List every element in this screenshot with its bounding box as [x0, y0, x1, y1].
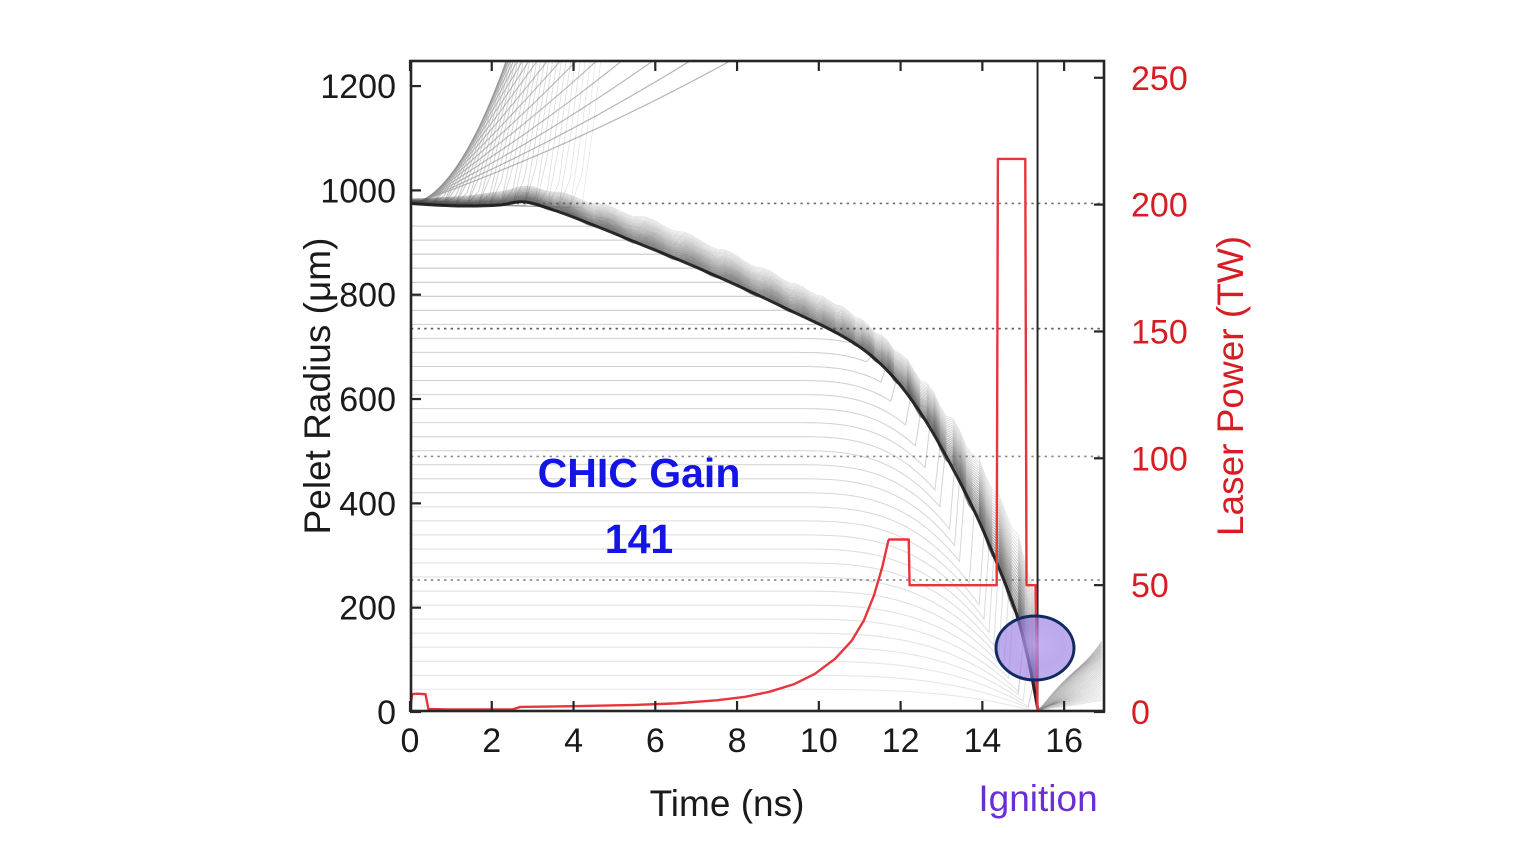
svg-text:2: 2: [482, 722, 501, 760]
ignition-label: Ignition: [978, 778, 1097, 819]
chart-background: [0, 0, 1536, 864]
svg-text:8: 8: [728, 722, 747, 760]
figure-root: 020040060080010001200 050100150200250 02…: [0, 0, 1536, 864]
svg-text:50: 50: [1131, 567, 1169, 605]
svg-text:1200: 1200: [320, 68, 396, 106]
svg-text:800: 800: [339, 277, 396, 315]
svg-text:100: 100: [1131, 440, 1188, 478]
svg-text:10: 10: [800, 722, 838, 760]
svg-text:0: 0: [377, 694, 396, 732]
left-axis-label: Pelet Radius (μm): [297, 238, 338, 535]
svg-text:400: 400: [339, 485, 396, 523]
gain-label-line1: CHIC Gain: [538, 450, 741, 496]
svg-text:250: 250: [1131, 60, 1188, 98]
pellet-radius-laser-power-chart: 020040060080010001200 050100150200250 02…: [0, 0, 1536, 864]
svg-text:16: 16: [1045, 722, 1083, 760]
svg-text:200: 200: [339, 590, 396, 628]
svg-text:150: 150: [1131, 313, 1188, 351]
svg-text:12: 12: [882, 722, 920, 760]
svg-text:0: 0: [401, 722, 420, 760]
svg-text:1000: 1000: [320, 172, 396, 210]
svg-text:0: 0: [1131, 694, 1150, 732]
svg-text:14: 14: [963, 722, 1001, 760]
ignition-marker: [996, 616, 1074, 680]
svg-text:6: 6: [646, 722, 665, 760]
svg-text:4: 4: [564, 722, 583, 760]
svg-text:600: 600: [339, 381, 396, 419]
x-axis-label: Time (ns): [650, 783, 805, 824]
gain-label-line2: 141: [605, 516, 673, 562]
svg-text:200: 200: [1131, 187, 1188, 225]
right-axis-label: Laser Power (TW): [1210, 236, 1251, 536]
